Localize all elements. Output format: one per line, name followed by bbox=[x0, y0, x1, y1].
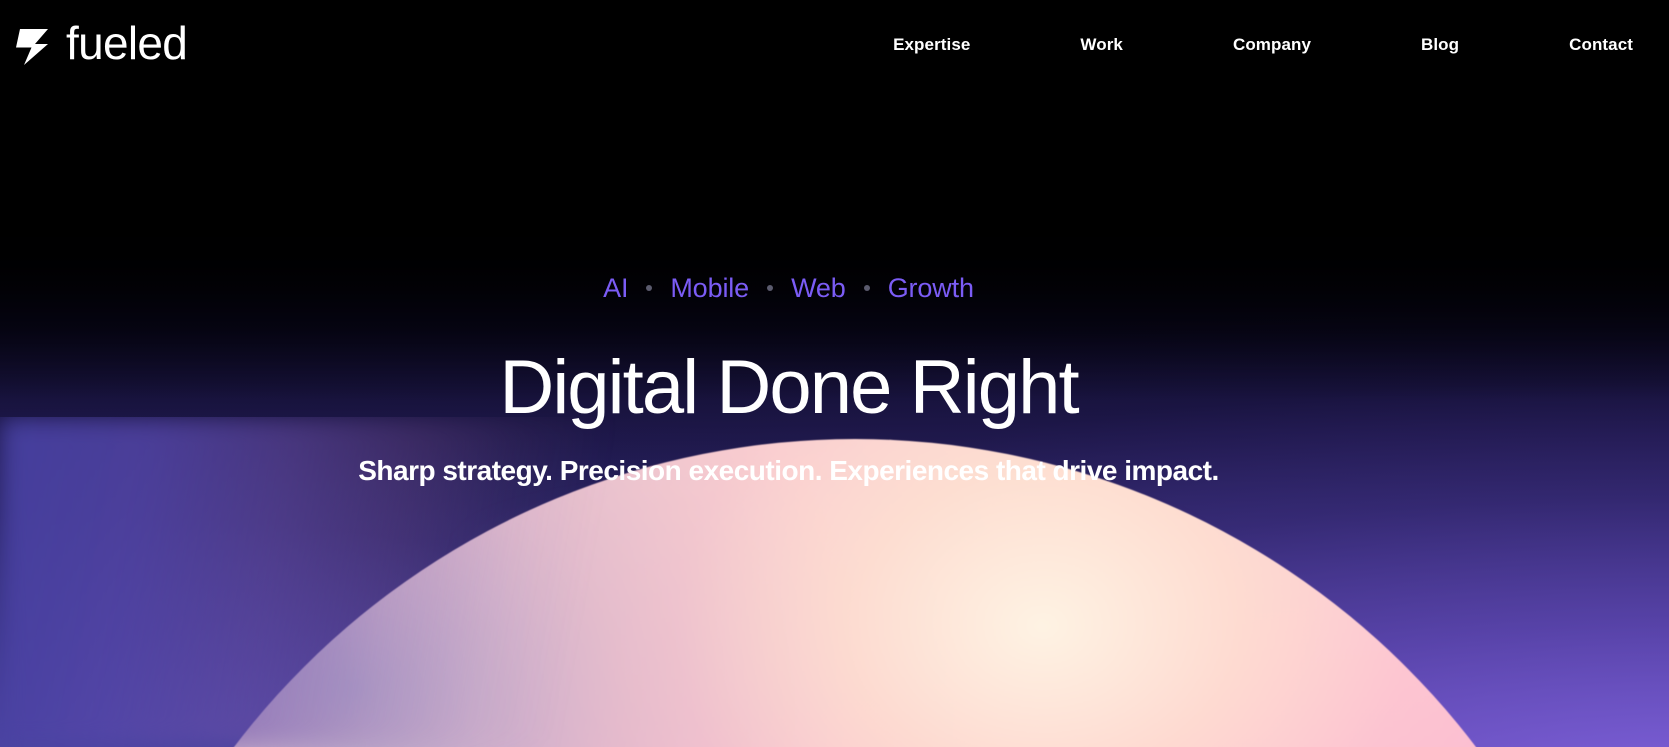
hero-service-list: AI Mobile Web Growth bbox=[0, 272, 1577, 304]
bullet-dot-icon bbox=[767, 285, 773, 291]
hero-service-mobile[interactable]: Mobile bbox=[670, 272, 749, 304]
hero-service-web[interactable]: Web bbox=[791, 272, 846, 304]
bullet-dot-icon bbox=[646, 285, 652, 291]
hero-headline: Digital Done Right bbox=[0, 348, 1577, 428]
lightning-bolt-icon bbox=[14, 23, 52, 67]
hero-section: AI Mobile Web Growth Digital Done Right … bbox=[0, 272, 1669, 488]
brand-name: fueled bbox=[66, 20, 187, 71]
nav-item-blog[interactable]: Blog bbox=[1419, 29, 1461, 61]
nav-item-contact[interactable]: Contact bbox=[1567, 29, 1635, 61]
bullet-dot-icon bbox=[864, 285, 870, 291]
hero-service-ai[interactable]: AI bbox=[603, 272, 628, 304]
hero-subheadline: Sharp strategy. Precision execution. Exp… bbox=[0, 454, 1577, 488]
nav-item-work[interactable]: Work bbox=[1078, 29, 1125, 61]
site-header: fueled Expertise Work Company Blog Conta… bbox=[0, 0, 1669, 90]
primary-navigation: Expertise Work Company Blog Contact bbox=[891, 29, 1635, 61]
nav-item-company[interactable]: Company bbox=[1231, 29, 1313, 61]
hero-service-growth[interactable]: Growth bbox=[888, 272, 974, 304]
nav-item-expertise[interactable]: Expertise bbox=[891, 29, 972, 61]
page-root: fueled Expertise Work Company Blog Conta… bbox=[0, 0, 1669, 747]
brand-logo-link[interactable]: fueled bbox=[14, 20, 187, 71]
